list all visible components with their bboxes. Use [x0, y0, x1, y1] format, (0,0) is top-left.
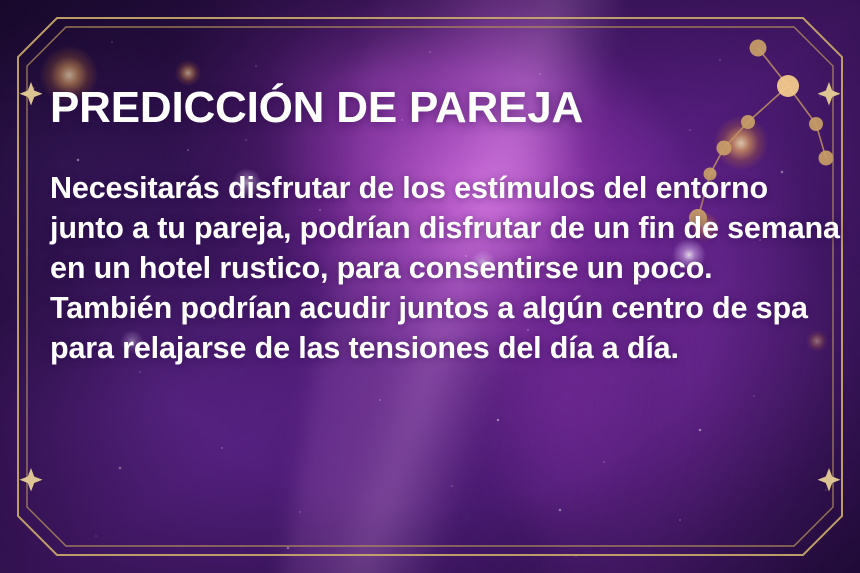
prediction-body-text: Necesitarás disfrutar de los estímulos d…	[50, 168, 840, 368]
horoscope-prediction-poster: PREDICCIÓN DE PAREJA Necesitarás disfrut…	[0, 0, 860, 573]
page-title: PREDICCIÓN DE PAREJA	[50, 86, 840, 130]
content-block: PREDICCIÓN DE PAREJA Necesitarás disfrut…	[50, 86, 840, 368]
